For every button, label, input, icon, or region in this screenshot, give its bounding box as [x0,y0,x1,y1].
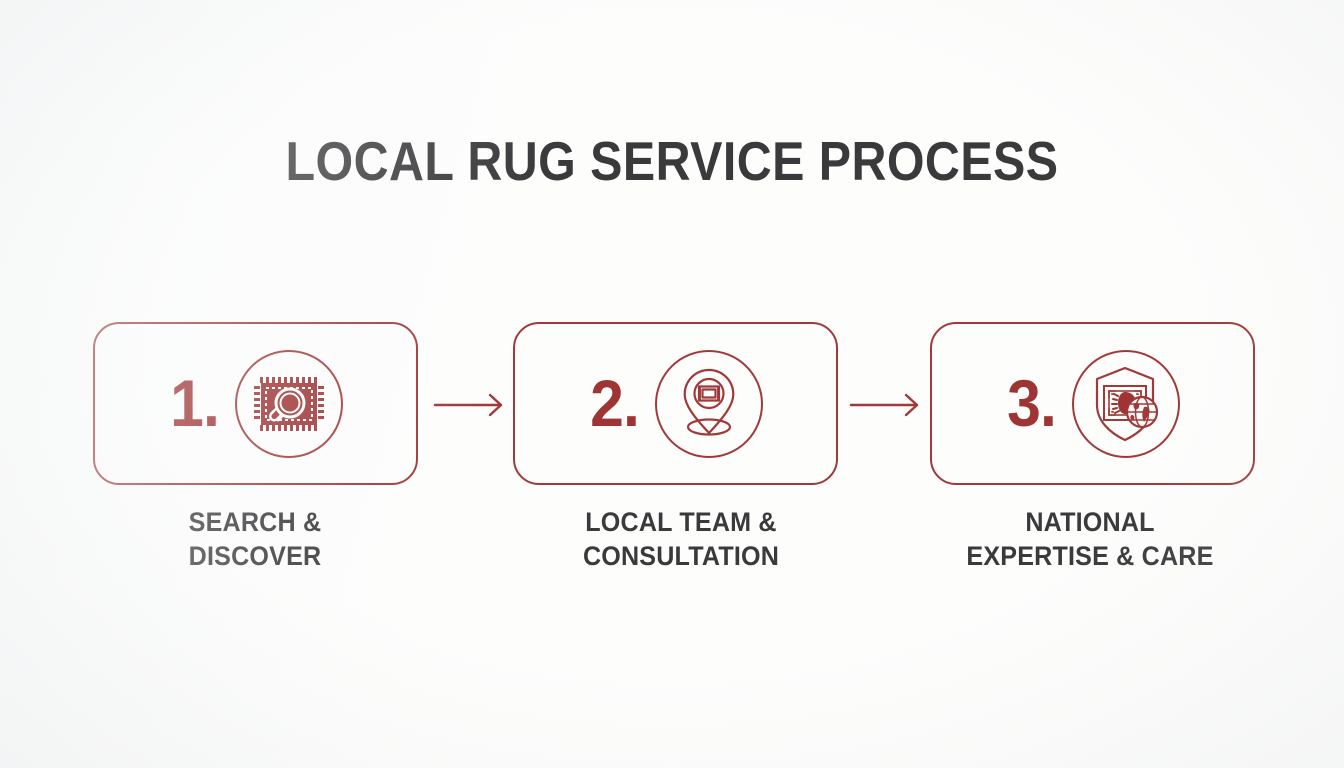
step-caption-3-line2: EXPERTISE & CARE [932,539,1248,573]
rug-magnifier-icon [252,373,326,435]
infographic-canvas: LOCAL RUG SERVICE PROCESS 1. [0,0,1344,768]
step-caption-3: NATIONAL EXPERTISE & CARE [932,505,1248,573]
step-caption-3-line1: NATIONAL [932,505,1248,539]
step-number-3: 3. [1007,370,1056,436]
step-card-2[interactable]: 2. [513,322,838,485]
step-number-2: 2. [590,370,639,436]
page-title: LOCAL RUG SERVICE PROCESS [81,131,1264,191]
step-caption-2-line2: CONSULTATION [523,539,839,573]
step-caption-2: LOCAL TEAM & CONSULTATION [523,505,839,573]
step-caption-2-line1: LOCAL TEAM & [523,505,839,539]
arrow-step-1-to-2 [433,389,507,421]
step-caption-1-line2: DISCOVER [97,539,413,573]
step-card-1[interactable]: 1. [93,322,418,485]
step-card-3[interactable]: 3. [930,322,1255,485]
icon-ring-1 [235,350,343,458]
step-caption-1: SEARCH & DISCOVER [97,505,413,573]
icon-ring-3 [1072,350,1180,458]
step-caption-1-line1: SEARCH & [97,505,413,539]
step-number-1: 1. [170,370,219,436]
shield-rug-globe-icon [1088,365,1164,443]
arrow-step-2-to-3 [849,389,923,421]
map-pin-rug-icon [674,367,744,441]
icon-ring-2 [655,350,763,458]
